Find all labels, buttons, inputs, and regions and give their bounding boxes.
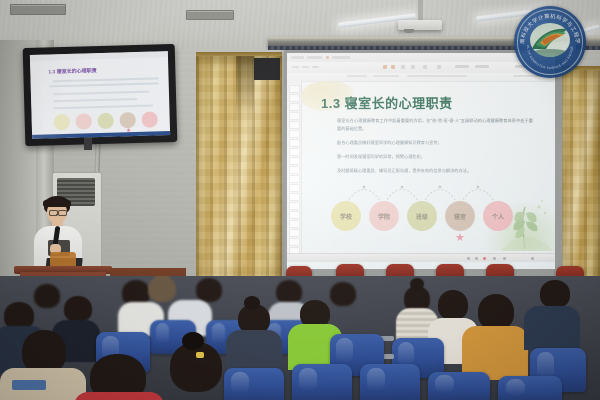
audience-head	[478, 294, 514, 330]
status-dot-4	[493, 257, 496, 260]
highlight-star-icon: ★	[455, 233, 465, 244]
curtain-fold-shadow	[236, 56, 254, 116]
slide-thumbnail[interactable]	[289, 139, 300, 147]
audience-head	[330, 282, 356, 306]
seat-highlight	[398, 342, 414, 366]
slide-thumbnail[interactable]	[289, 229, 300, 237]
ribbon-btn-f[interactable]	[437, 65, 441, 69]
slide-thumbnail[interactable]	[289, 184, 300, 192]
tv-monitor[interactable]: 1.3 寝室长的心理职责 ★	[23, 44, 178, 146]
ribbon-btn-g[interactable]	[455, 65, 469, 68]
ribbon-btn-c[interactable]	[401, 65, 405, 69]
audience-hair-bun	[410, 278, 424, 290]
seat-highlight	[435, 375, 454, 393]
app-menu-chip-1[interactable]	[291, 56, 304, 59]
projection-screen-frame: 1.3 寝室长的心理职责 寝室长在心理健康教育工作中起着重要的作用，在"校-院-…	[284, 50, 562, 276]
ribbon2-chip-3[interactable]	[407, 75, 467, 77]
seat-highlight	[156, 323, 170, 343]
university-logo: 湖南科技大学计算机科学与工程学院 SCHOOL OF COMPUTER SCIE…	[514, 6, 586, 78]
slide-thumbnail[interactable]	[289, 148, 300, 156]
slide-thumbnail[interactable]	[289, 103, 300, 111]
slide-thumbnail[interactable]	[289, 220, 300, 228]
audience-area	[0, 276, 600, 400]
slide-thumbnail[interactable]	[289, 211, 300, 219]
window-gap	[254, 58, 280, 80]
curtain-right	[556, 70, 600, 288]
seat-highlight	[212, 323, 226, 343]
ribbon-btn-b[interactable]	[391, 65, 395, 69]
chain-node-individual: 个人	[483, 201, 513, 231]
ribbon2-chip-1[interactable]	[347, 75, 367, 77]
slide-thumbnail[interactable]	[289, 94, 300, 102]
seat-highlight	[367, 368, 385, 391]
presenter-glasses-right	[58, 210, 67, 216]
ribbon-btn-a[interactable]	[383, 65, 387, 69]
app-menu-chip-4[interactable]	[332, 56, 350, 59]
audience-torso-dark	[524, 306, 580, 350]
chain-node-dorm: 寝室	[445, 201, 475, 231]
audience-head	[276, 280, 302, 304]
slide-paragraph-3: 第一时间发现寝室同学的异常，预警心理危机；	[337, 153, 533, 161]
seat	[224, 368, 284, 400]
ribbon-tab-1[interactable]	[302, 66, 309, 68]
lecture-hall-photo: 1.3 寝室长的心理职责 寝室长在心理健康教育工作中起着重要的作用，在"校-院-…	[0, 0, 600, 400]
slide-thumbnail[interactable]	[289, 85, 300, 93]
audience-head	[438, 290, 468, 320]
audience-hair-bun	[182, 332, 204, 350]
slide-thumbnail[interactable]	[289, 193, 300, 201]
ceiling-vent-left	[10, 4, 66, 15]
audience-head	[34, 284, 60, 308]
ribbon-btn-d[interactable]	[411, 65, 415, 69]
seat-highlight	[299, 368, 317, 391]
slide-thumbnail[interactable]	[289, 157, 300, 165]
seat-highlight	[336, 338, 352, 363]
presenter-fringe	[43, 198, 71, 207]
seat-highlight	[537, 352, 554, 378]
slide-thumbnail[interactable]	[289, 166, 300, 174]
chain-node-class: 班级	[407, 201, 437, 231]
slide-thumbnail-panel[interactable]	[287, 81, 302, 261]
seat	[498, 376, 562, 400]
app-menu-chip-3[interactable]	[326, 56, 329, 59]
slide-thumbnail[interactable]	[289, 121, 300, 129]
slide-paragraph-2: 配合心理委员做好寝室同学的心理健康知识教育与宣传；	[337, 139, 533, 147]
slide-thumbnail[interactable]	[289, 130, 300, 138]
ribbon-btn-h[interactable]	[475, 65, 489, 68]
slide-paragraph-1: 寝室长在心理健康教育工作中起着重要的作用，在"校-院-班-寝-人"五级联动的心理…	[337, 117, 533, 133]
presenter-glasses-left	[49, 210, 58, 216]
seat-highlight	[506, 379, 525, 396]
logo-emblem-art	[530, 23, 570, 57]
status-dot-3	[483, 257, 486, 260]
seat	[360, 364, 420, 400]
seat	[292, 364, 352, 400]
tv-screen: 1.3 寝室长的心理职责 ★	[30, 51, 170, 139]
slide-thumbnail[interactable]	[289, 112, 300, 120]
slide-thumbnail[interactable]	[289, 202, 300, 210]
slide-thumbnail[interactable]	[289, 175, 300, 183]
ribbon-tab-2[interactable]	[312, 66, 319, 68]
seat	[428, 372, 490, 400]
presenter-glasses-bridge	[56, 214, 58, 215]
app-menu-chip-2[interactable]	[307, 56, 322, 59]
tv-mount-bracket	[84, 138, 92, 150]
slide-paragraph-4: 及时跟班级心理委员、辅导员汇报沟通，提供有效的信息与解决的办法。	[337, 167, 533, 175]
seat-highlight	[231, 372, 249, 394]
status-zoom-dot[interactable]	[531, 257, 534, 260]
audience-torso-red	[74, 392, 164, 400]
slide-title: 1.3 寝室长的心理职责	[321, 93, 521, 112]
chain-node-college: 学院	[369, 201, 399, 231]
status-dot-2	[475, 257, 478, 260]
audience-hair-bun	[244, 296, 260, 310]
ribbon-tab-0[interactable]	[292, 66, 299, 68]
chain-node-school: 学校	[331, 201, 361, 231]
logo-emblem	[530, 23, 570, 57]
audience-head	[196, 278, 222, 302]
status-dot-1	[467, 257, 470, 260]
hair-clip	[196, 352, 204, 358]
ribbon2-chip-2[interactable]	[373, 75, 399, 77]
seat-label-plate	[12, 380, 46, 390]
status-dot-5	[503, 257, 506, 260]
ribbon-btn-e[interactable]	[423, 65, 427, 69]
audience-head	[540, 280, 570, 308]
projector-mount-arm	[418, 0, 423, 22]
ceiling-vent-mid	[186, 10, 234, 20]
tv-glare	[30, 51, 170, 139]
status-bar[interactable]	[287, 253, 555, 262]
audience-head	[64, 296, 92, 322]
projector-lens	[404, 29, 414, 33]
projection-screen[interactable]: 1.3 寝室长的心理职责 寝室长在心理健康教育工作中起着重要的作用，在"校-院-…	[287, 53, 555, 269]
slide-thumbnail[interactable]	[289, 238, 300, 246]
